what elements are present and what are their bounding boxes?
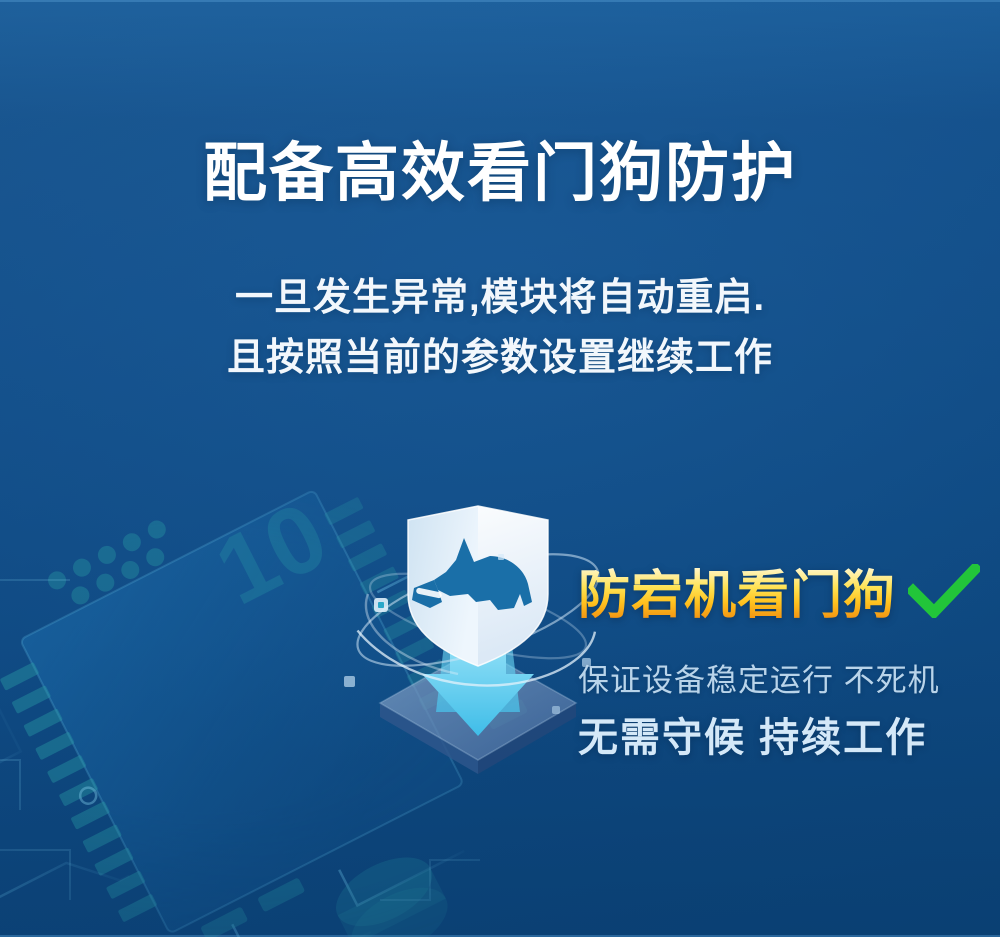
promo-banner: 10: [0, 0, 1000, 937]
feature-row: 防宕机看门狗: [578, 556, 978, 624]
background-top-sheen: [0, 0, 1000, 120]
shield-shape: [408, 506, 548, 666]
subtitle-line-1: 一旦发生异常,模块将自动重启.: [0, 266, 1000, 321]
benefit-line-2: 无需守候 持续工作: [578, 705, 978, 763]
page-title: 配备高效看门狗防护: [0, 138, 1000, 210]
feature-label: 防宕机看门狗: [578, 553, 896, 628]
shield-watchdog-icon: [338, 498, 618, 798]
benefit-line-1: 保证设备稳定运行 不死机: [578, 655, 978, 700]
subtitle-line-2: 且按照当前的参数设置继续工作: [0, 326, 1000, 381]
top-edge-line: [0, 0, 1000, 2]
green-check-icon: [908, 564, 980, 618]
